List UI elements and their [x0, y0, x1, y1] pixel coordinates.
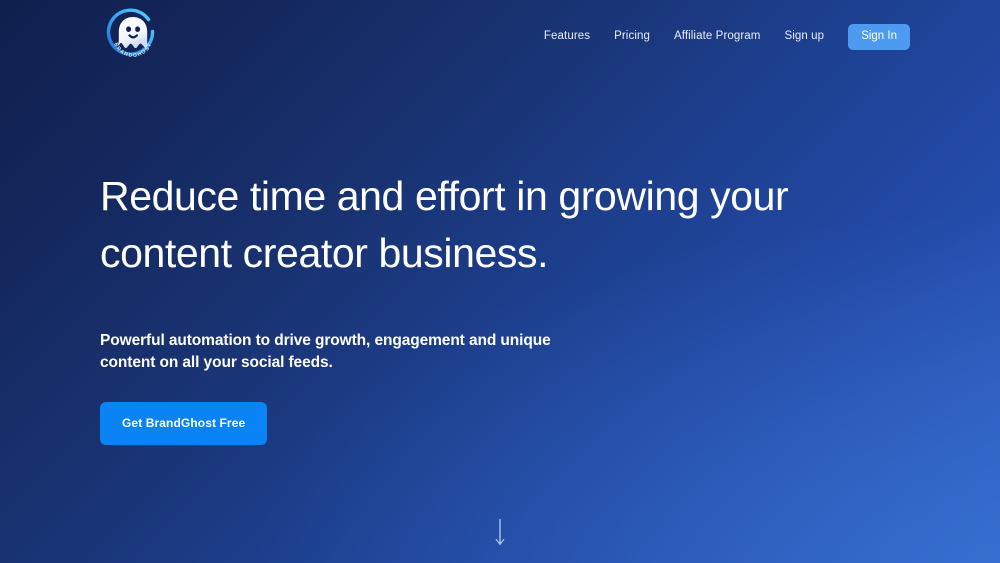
main-navigation: Features Pricing Affiliate Program Sign … [544, 24, 910, 51]
hero-subheadline: Powerful automation to drive growth, eng… [100, 282, 580, 374]
nav-link-affiliate-program[interactable]: Affiliate Program [662, 31, 773, 43]
get-brandghost-free-button[interactable]: Get BrandGhost Free [100, 402, 267, 445]
sign-in-button[interactable]: Sign In [848, 24, 910, 51]
site-header: BRANDGHOST Features Pricing Affiliate Pr… [0, 0, 1000, 74]
nav-link-pricing[interactable]: Pricing [602, 31, 662, 43]
scroll-down-indicator[interactable] [493, 519, 507, 549]
scroll-down-arrow-icon [493, 519, 507, 549]
hero-content: Reduce time and effort in growing your c… [100, 168, 880, 445]
nav-link-features[interactable]: Features [544, 31, 602, 43]
brandghost-logo[interactable]: BRANDGHOST [102, 6, 164, 68]
brandghost-ghost-logo-icon: BRANDGHOST [102, 6, 164, 68]
hero-headline: Reduce time and effort in growing your c… [100, 168, 860, 282]
hero-section: BRANDGHOST Features Pricing Affiliate Pr… [0, 0, 1000, 563]
nav-link-sign-up[interactable]: Sign up [772, 31, 836, 43]
